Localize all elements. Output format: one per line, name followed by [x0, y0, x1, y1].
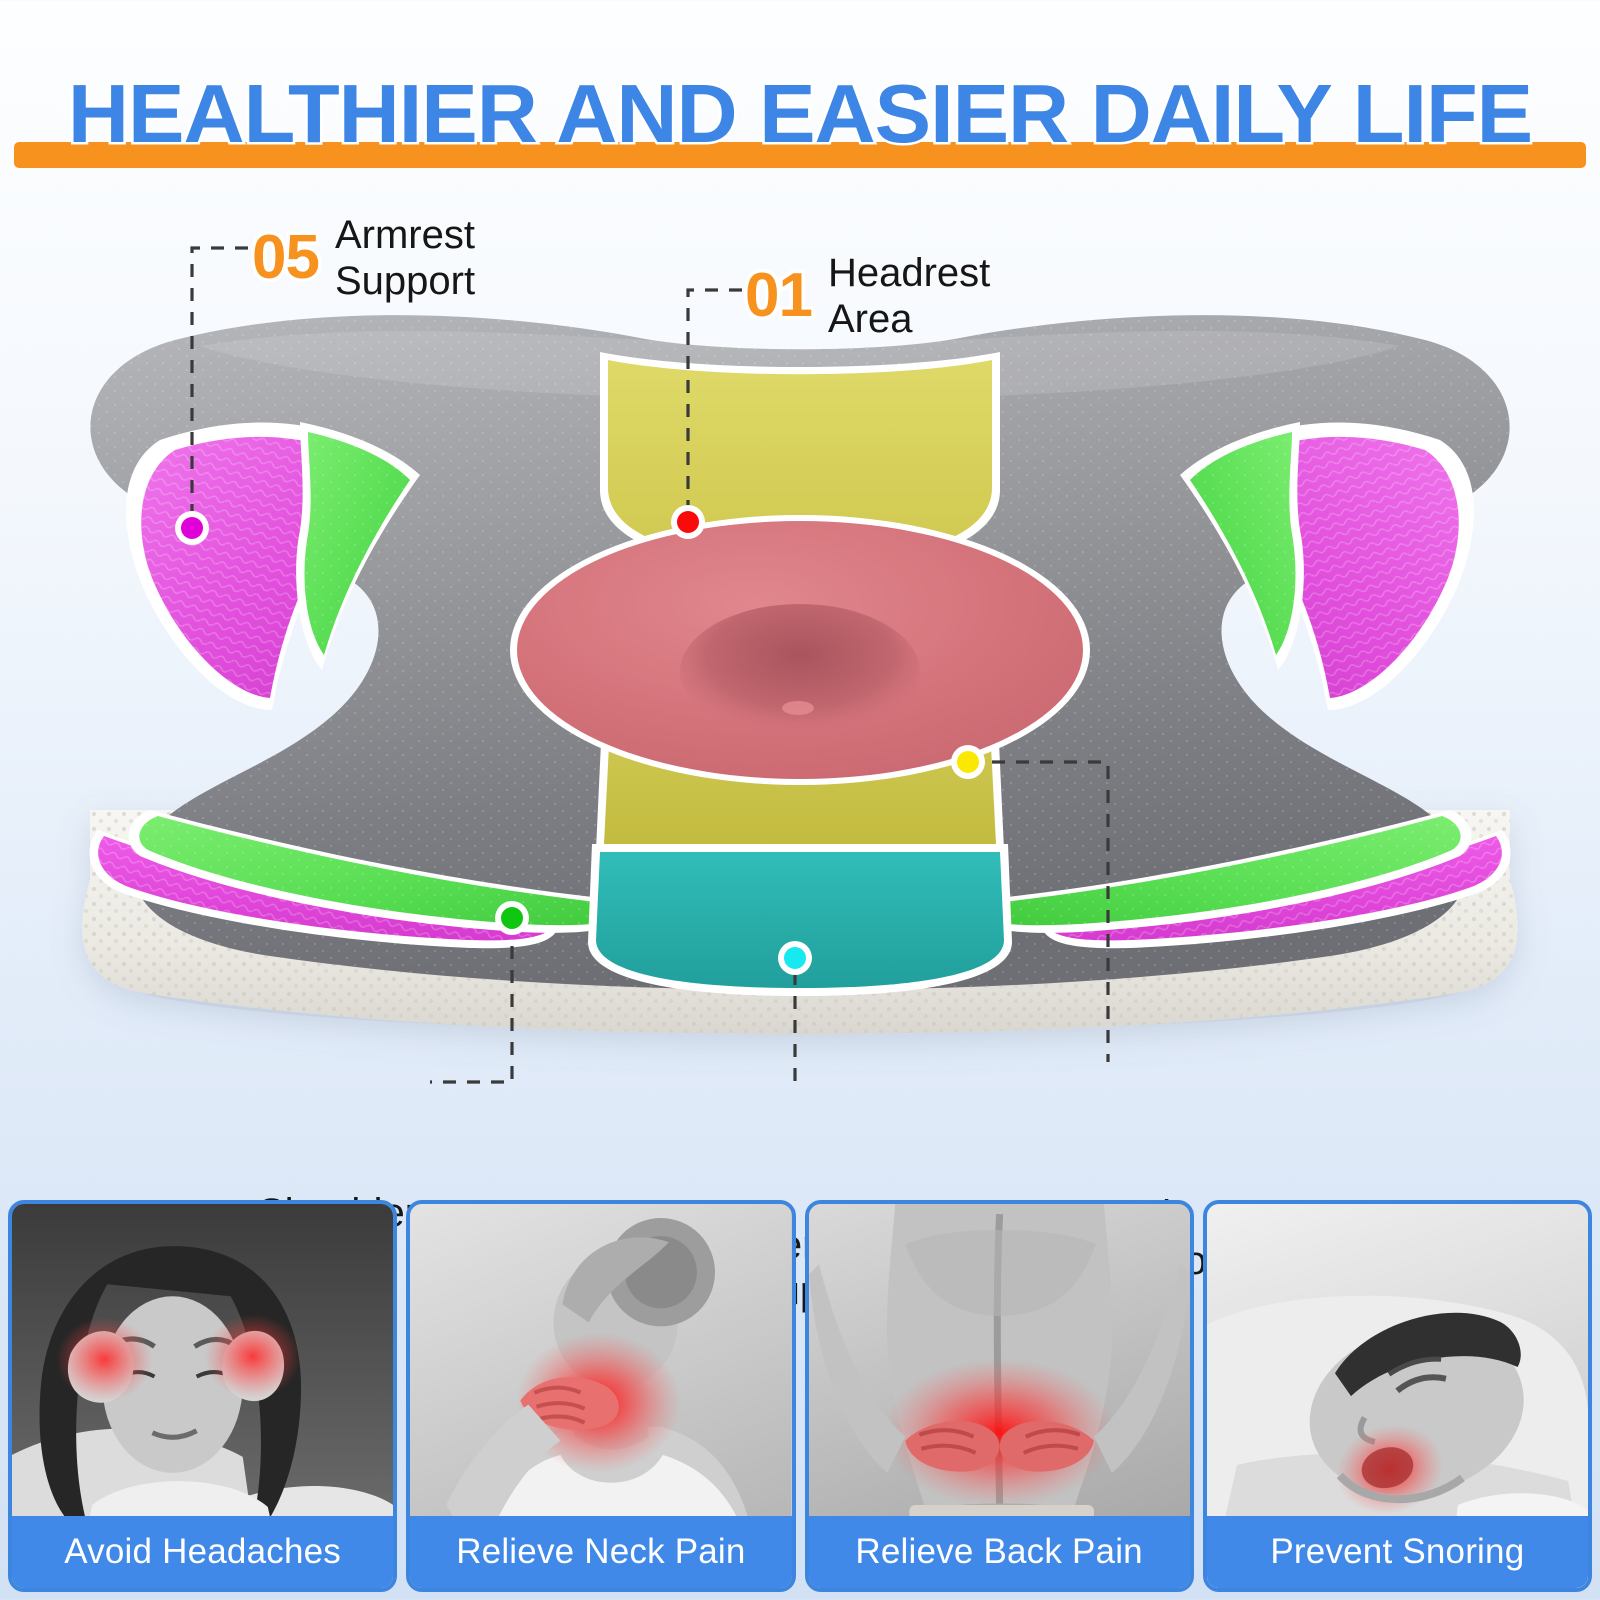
marker-01-headrest [677, 511, 699, 533]
benefit-card-relieve-neck-pain[interactable]: Relieve Neck Pain [406, 1200, 795, 1592]
pillow-diagram: 05 Armrest Support 01 Headrest Area 02 N… [0, 150, 1600, 1190]
benefit-caption-1: Avoid Headaches [12, 1516, 393, 1588]
zone-headrest-area [510, 515, 1090, 785]
callout-label-01: Headrest Area [828, 250, 990, 342]
callout-headrest-area: 01 Headrest Area [745, 250, 990, 342]
benefit-card-relieve-back-pain[interactable]: Relieve Back Pain [805, 1200, 1194, 1592]
headrest-dimple [680, 604, 920, 740]
benefit-card-prevent-snoring[interactable]: Prevent Snoring [1203, 1200, 1592, 1592]
benefit-card-avoid-headaches[interactable]: Avoid Headaches [8, 1200, 397, 1592]
callout-number-01: 01 [745, 266, 812, 326]
benefits-photo-strip: Avoid Headaches [0, 1200, 1600, 1600]
marker-02-neck [957, 751, 979, 773]
marker-05-armrest [181, 517, 203, 539]
page-title: HEALTHIER AND EASIER DAILY LIFE [0, 68, 1600, 160]
benefit-caption-2: Relieve Neck Pain [410, 1516, 791, 1588]
callout-label-05: Armrest Support [335, 212, 475, 304]
callout-number-05: 05 [252, 228, 319, 288]
benefit-caption-3: Relieve Back Pain [809, 1516, 1190, 1588]
benefit-caption-4: Prevent Snoring [1207, 1516, 1588, 1588]
callout-armrest-support: 05 Armrest Support [252, 212, 475, 304]
marker-04-shoulder [501, 907, 523, 929]
page-header: HEALTHIER AND EASIER DAILY LIFE [0, 34, 1600, 144]
marker-03-cervical [784, 947, 806, 969]
